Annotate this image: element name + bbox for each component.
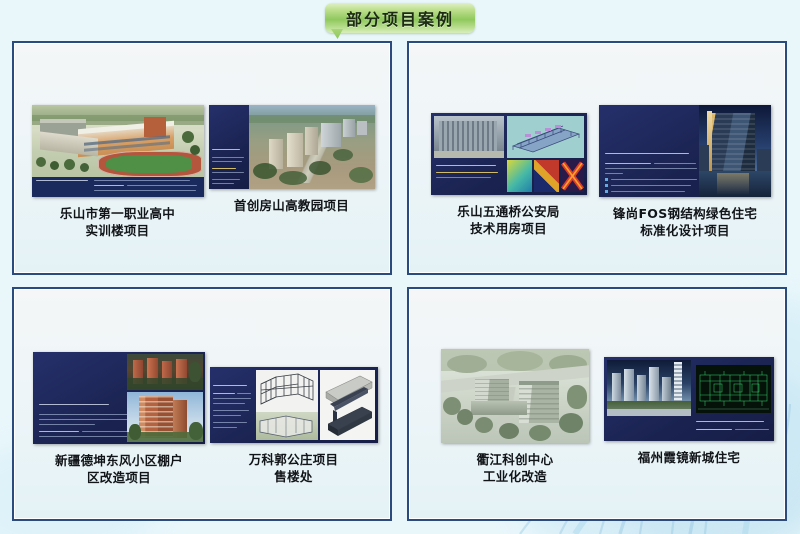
slide-canvas: 部分项目案例 [0,0,800,534]
panel-bottom-right: 衢江科创中心 工业化改造 [407,287,787,521]
vanke-guogongzhuang-sales-office-thumbnail[interactable] [210,367,378,443]
project-card-leshan-vocational-school[interactable]: 乐山市第一职业高中 实训楼项目 [30,105,205,240]
slide-title: 部分项目案例 [346,6,454,30]
panel-top-left: 乐山市第一职业高中 实训楼项目 [12,41,392,275]
project-caption: 衢江科创中心 工业化改造 [477,452,554,486]
panel-top-right: 乐山五通桥公安局 技术用房项目 [407,41,787,275]
project-caption: 首创房山高教园项目 [234,198,349,215]
project-caption: 福州霞镜新城住宅 [638,450,740,467]
shouchuang-fangshan-higher-education-park-thumbnail[interactable] [209,105,375,189]
leshan-wutongqiao-public-security-bureau-thumbnail[interactable] [431,113,587,195]
xinjiang-dekun-dongfeng-shantytown-renovation-thumbnail[interactable] [33,352,205,444]
project-caption: 新疆德坤东风小区棚户 区改造项目 [55,453,183,487]
qujiang-science-innovation-center-thumbnail[interactable] [441,349,589,443]
project-caption: 乐山市第一职业高中 实训楼项目 [60,206,175,240]
project-card-shouchuang-fangshan[interactable]: 首创房山高教园项目 [204,105,379,215]
panel-bottom-left: 新疆德坤东风小区棚户 区改造项目 [12,287,392,521]
project-card-fengshang-fos[interactable]: 锋尚FOS钢结构绿色住宅 标准化设计项目 [591,105,779,240]
fuzhou-xiajing-new-town-residence-thumbnail[interactable] [604,357,774,441]
project-caption: 万科郭公庄项目 售楼处 [249,452,339,486]
project-card-xinjiang-dekun[interactable]: 新疆德坤东风小区棚户 区改造项目 [30,352,208,487]
project-card-vanke-guogongzhuang[interactable]: 万科郭公庄项目 售楼处 [206,367,381,486]
slide-title-badge: 部分项目案例 [325,3,475,33]
fengshang-fos-steel-green-housing-thumbnail[interactable] [599,105,771,197]
leshan-vocational-school-training-building-thumbnail[interactable] [32,105,204,197]
project-caption: 乐山五通桥公安局 技术用房项目 [457,204,559,238]
project-caption: 锋尚FOS钢结构绿色住宅 标准化设计项目 [613,206,757,240]
project-card-fuzhou-xiajing[interactable]: 福州霞镜新城住宅 [599,357,779,467]
project-card-leshan-wutongqiao-psb[interactable]: 乐山五通桥公安局 技术用房项目 [421,113,596,238]
project-card-qujiang-science-innovation-center[interactable]: 衢江科创中心 工业化改造 [429,349,601,486]
